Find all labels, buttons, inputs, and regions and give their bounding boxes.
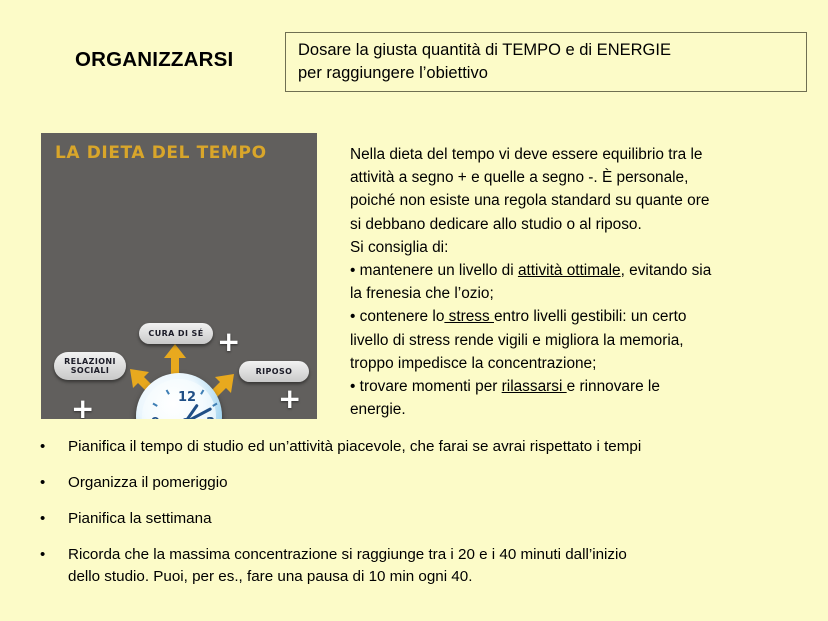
body-line-7: la frenesia che l’ozio; — [350, 282, 798, 305]
list-item-text: Pianifica la settimana — [68, 510, 212, 527]
subtitle-line-1: Dosare la giusta quantità di TEMPO e di … — [298, 39, 796, 62]
body-line-6-underlined: attività ottimale — [518, 262, 621, 279]
body-line-11-underlined: rilassarsi — [502, 378, 567, 395]
list-item: • Pianifica la settimana — [36, 508, 806, 530]
diagram-pill-riposo[interactable]: RIPOSO — [239, 361, 309, 382]
clock-number-12: 12 — [178, 390, 196, 405]
list-item: • Ricorda che la massima concentrazione … — [36, 544, 806, 588]
clock-number-3: 3 — [206, 416, 215, 419]
clock-tick — [200, 389, 204, 394]
pill-label-line1: RELAZIONI — [64, 357, 116, 366]
body-line-1: Nella dieta del tempo vi deve essere equ… — [350, 143, 798, 166]
body-line-11: • trovare momenti per rilassarsi e rinno… — [350, 375, 798, 398]
dieta-del-tempo-diagram: LA DIETA DEL TEMPO 12 3 — [41, 133, 317, 419]
body-line-11-b: e rinnovare le — [567, 378, 660, 395]
diagram-pill-relazioni-sociali[interactable]: RELAZIONI SOCIALI — [54, 352, 126, 380]
page-title: ORGANIZZARSI — [75, 48, 233, 72]
bullet-marker: • — [40, 544, 45, 566]
body-line-6: • mantenere un livello di attività ottim… — [350, 259, 798, 282]
clock-number-9: 9 — [151, 416, 160, 419]
clock-tick — [166, 389, 170, 394]
list-item-text: Pianifica il tempo di studio ed un’attiv… — [68, 438, 641, 455]
body-paragraph: Nella dieta del tempo vi deve essere equ… — [350, 143, 798, 421]
slide-canvas: ORGANIZZARSI Dosare la giusta quantità d… — [0, 0, 828, 621]
pill-label: CURA DI SÉ — [148, 329, 203, 338]
bullet-marker: • — [40, 508, 45, 530]
diagram-pill-cura-di-se[interactable]: CURA DI SÉ — [139, 323, 213, 344]
body-line-10: troppo impedisce la concentrazione; — [350, 352, 798, 375]
body-line-2: attività a segno + e quelle a segno -. È… — [350, 166, 798, 189]
subtitle-box: Dosare la giusta quantità di TEMPO e di … — [285, 32, 807, 92]
pill-label-line2: SOCIALI — [71, 366, 109, 375]
bullet-marker: • — [40, 472, 45, 494]
list-item-text: Organizza il pomeriggio — [68, 474, 228, 491]
clock-tick — [152, 403, 157, 407]
sign-riposo: + — [278, 385, 301, 413]
subtitle-line-2: per raggiungere l’obiettivo — [298, 62, 796, 85]
list-item-text-line2: dello studio. Puoi, per es., fare una pa… — [68, 566, 806, 588]
pill-label: RELAZIONI SOCIALI — [64, 357, 116, 375]
body-line-12: energie. — [350, 398, 798, 421]
body-line-3: poiché non esiste una regola standard su… — [350, 189, 798, 212]
clock-face: 12 3 6 9 — [142, 379, 216, 419]
sign-relazioni-sociali: + — [71, 395, 94, 419]
list-item: • Organizza il pomeriggio — [36, 472, 806, 494]
body-line-5: Si consiglia di: — [350, 236, 798, 259]
bullet-list: • Pianifica il tempo di studio ed un’att… — [36, 436, 806, 602]
clock-tick — [212, 403, 217, 407]
body-line-11-a: • trovare momenti per — [350, 378, 502, 395]
body-line-8: • contenere lo stress entro livelli gest… — [350, 305, 798, 328]
body-line-4: si debbano dedicare allo studio o al rip… — [350, 213, 798, 236]
bullet-marker: • — [40, 436, 45, 458]
pill-label: RIPOSO — [256, 367, 293, 376]
sign-cura-di-se: + — [217, 328, 240, 356]
body-line-8-underlined: stress — [444, 308, 494, 325]
clock-center-pin — [182, 418, 189, 419]
body-line-6-a: • mantenere un livello di — [350, 262, 518, 279]
body-line-8-b: entro livelli gestibili: un certo — [494, 308, 686, 325]
body-line-8-a: • contenere lo — [350, 308, 444, 325]
list-item-text: Ricorda che la massima concentrazione si… — [68, 546, 627, 563]
body-line-6-b: , evitando sia — [621, 262, 712, 279]
body-line-9: livello di stress rende vigili e miglior… — [350, 329, 798, 352]
list-item: • Pianifica il tempo di studio ed un’att… — [36, 436, 806, 458]
